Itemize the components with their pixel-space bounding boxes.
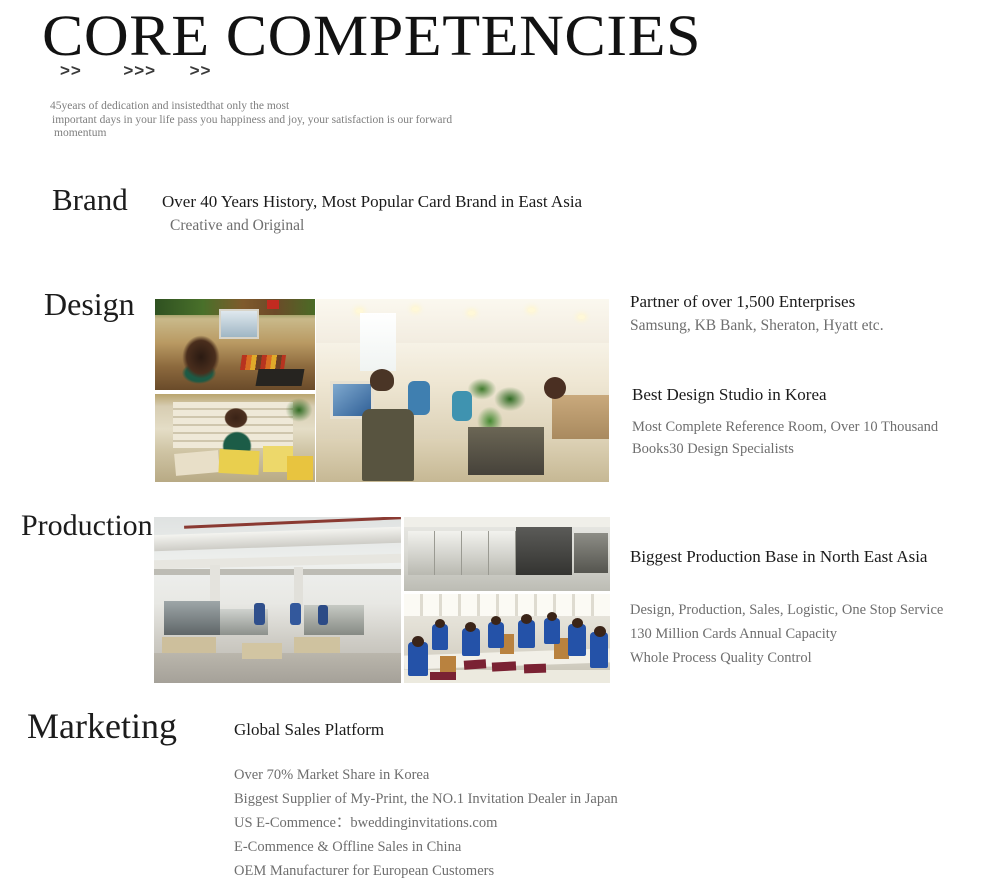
arrow-group-3: >> <box>190 61 212 81</box>
worker-head-6 <box>547 612 557 621</box>
ceiling-light-4 <box>528 308 535 312</box>
factory-worker-1 <box>254 603 265 625</box>
worker-head-right <box>544 377 566 399</box>
factory-worker-2 <box>290 603 301 625</box>
card-stack-1 <box>464 659 487 670</box>
marketing-text-block: Global Sales Platform Over 70% Market Sh… <box>234 718 834 883</box>
machine-3 <box>304 605 364 635</box>
intro-line-2: important days in your life pass you hap… <box>50 114 610 128</box>
design-headline-2: Best Design Studio in Korea <box>632 383 990 407</box>
marketing-headline: Global Sales Platform <box>234 718 834 742</box>
design-text-block: Partner of over 1,500 Enterprises Samsun… <box>630 290 990 460</box>
press-unit-4 <box>489 531 516 575</box>
marketing-line-list: Over 70% Market Share in Korea Biggest S… <box>234 763 834 883</box>
intro-line-3: momentum <box>50 127 610 141</box>
arrow-group-2: >>> <box>123 61 156 81</box>
computer-monitor <box>219 309 259 339</box>
design-headline-1: Partner of over 1,500 Enterprises <box>630 290 990 314</box>
design-subline-1: Samsung, KB Bank, Sheraton, Hyatt etc. <box>630 314 990 337</box>
color-swatch-set <box>240 355 286 370</box>
ceiling-light-2 <box>412 307 419 311</box>
brand-headline: Over 40 Years History, Most Popular Card… <box>162 190 582 214</box>
worker-head-foreground <box>370 369 394 391</box>
production-text-block: Biggest Production Base in North East As… <box>630 545 990 670</box>
section-label-marketing: Marketing <box>27 705 177 747</box>
worker-head-4 <box>491 616 501 625</box>
press-ceiling <box>404 517 610 527</box>
page-title: CORE COMPETENCIES <box>42 6 701 66</box>
press-unit-2 <box>435 531 462 575</box>
core-competencies-page: CORE COMPETENCIES >> >>> >> 45years of d… <box>0 0 990 872</box>
office-chair-teal <box>452 391 472 421</box>
production-line: Design, Production, Sales, Logistic, One… <box>630 598 990 622</box>
card-stack-2 <box>492 661 516 671</box>
brand-subline: Creative and Original <box>162 214 582 237</box>
pallet-1 <box>162 637 216 653</box>
worker-head-5 <box>521 614 532 624</box>
design-block-2: Best Design Studio in Korea Most Complet… <box>630 383 990 460</box>
overhead-duct-2 <box>154 554 401 569</box>
production-line-list: Design, Production, Sales, Logistic, One… <box>630 598 990 670</box>
intro-line-1: 45years of dedication and insistedthat o… <box>50 100 610 114</box>
ceiling-light-3 <box>468 311 475 315</box>
worker-head-3 <box>465 622 476 632</box>
right-desk <box>552 395 609 439</box>
design-block-1: Partner of over 1,500 Enterprises Samsun… <box>630 290 990 337</box>
worker-head-1 <box>412 636 424 647</box>
workshop-window-row <box>404 594 610 616</box>
desk-tray <box>256 369 305 386</box>
production-line: 130 Million Cards Annual Capacity <box>630 622 990 646</box>
pallet-2 <box>242 643 282 659</box>
artwork-sheet-1 <box>174 450 220 476</box>
marketing-line: US E-Commence：bweddinginvitations.com <box>234 811 834 835</box>
press-control-cabinet <box>516 527 572 575</box>
red-box <box>267 300 279 309</box>
marketing-line: OEM Manufacturer for European Customers <box>234 859 834 883</box>
section-label-brand: Brand <box>52 182 128 218</box>
marketing-line: Over 70% Market Share in Korea <box>234 763 834 787</box>
photo-offset-printing-press <box>404 517 610 591</box>
artwork-sheet-4 <box>287 456 313 480</box>
workshop-worker-1 <box>408 642 428 676</box>
card-stack-4 <box>430 672 456 680</box>
production-headline: Biggest Production Base in North East As… <box>630 545 990 569</box>
press-unit-3 <box>462 531 489 575</box>
press-side-panel <box>574 533 608 573</box>
workshop-worker-5 <box>518 620 535 648</box>
foreground-chair <box>362 409 414 481</box>
press-unit-1 <box>408 531 435 575</box>
workshop-worker-3 <box>462 628 480 656</box>
intro-paragraph: 45years of dedication and insistedthat o… <box>50 100 610 141</box>
worker-head-8 <box>594 626 606 637</box>
worker-head-2 <box>435 619 445 628</box>
production-line: Whole Process Quality Control <box>630 646 990 670</box>
desk-cabinet-unit <box>468 427 544 475</box>
machine-1 <box>164 601 220 635</box>
photo-finishing-workshop <box>404 594 610 683</box>
ceiling-beam <box>154 569 401 575</box>
arrow-group-1: >> <box>60 61 82 81</box>
studio-window <box>360 313 396 371</box>
photo-designer-at-desk <box>155 299 315 390</box>
office-chair-blue <box>408 381 430 415</box>
arrow-divider: >> >>> >> <box>60 61 211 81</box>
marketing-line: Biggest Supplier of My-Print, the NO.1 I… <box>234 787 834 811</box>
workshop-worker-8 <box>590 632 608 668</box>
workshop-worker-7 <box>568 624 586 656</box>
factory-worker-3 <box>318 605 328 625</box>
brand-text-block: Over 40 Years History, Most Popular Card… <box>162 190 582 237</box>
workshop-worker-6 <box>544 618 560 644</box>
section-label-production: Production <box>21 509 153 543</box>
pallet-3 <box>294 637 340 653</box>
design-subline-2: Most Complete Reference Room, Over 10 Th… <box>632 416 984 460</box>
photo-designer-drafting-table <box>155 394 315 482</box>
section-label-design: Design <box>44 286 135 323</box>
ceiling-light-5 <box>578 315 585 319</box>
artwork-sheet-2 <box>218 449 259 475</box>
photo-open-plan-design-studio <box>316 299 609 482</box>
card-stack-3 <box>524 664 546 674</box>
marketing-line: E-Commence & Offline Sales in China <box>234 835 834 859</box>
worker-head-7 <box>572 618 583 628</box>
overhead-duct-1 <box>154 527 401 552</box>
potted-plant <box>283 396 315 426</box>
photo-factory-floor <box>154 517 401 683</box>
workshop-worker-4 <box>488 622 504 648</box>
studio-floor <box>316 439 609 482</box>
